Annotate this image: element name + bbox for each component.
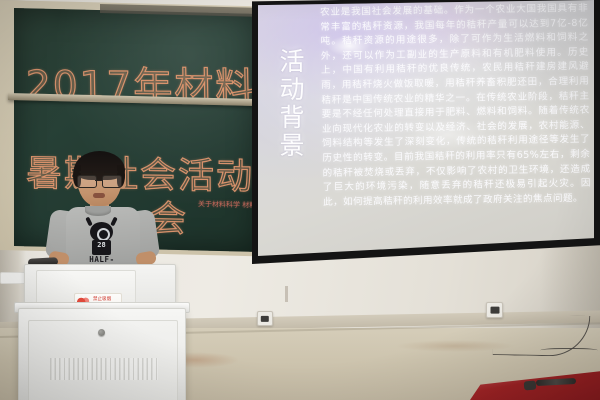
power-cable-tail bbox=[540, 348, 598, 354]
glasses-lens-left bbox=[77, 175, 97, 188]
glasses-bridge bbox=[95, 180, 102, 181]
glasses-icon bbox=[77, 175, 123, 186]
speaker: 28 HALF-LIFE bbox=[52, 152, 158, 277]
lecture-hall-photo: 2017年材料学院 暑期社会活动 会 关于材料科学 材料科学与 活动背景 农业是… bbox=[0, 0, 600, 400]
cloth-object-body bbox=[524, 381, 537, 391]
shirt-graphic: 28 HALF-LIFE bbox=[80, 218, 124, 264]
outlet-slot bbox=[490, 307, 499, 314]
speaker-eyebrow-right bbox=[104, 171, 118, 173]
shirt-number: 28 bbox=[92, 241, 111, 249]
wall-scuff-mark bbox=[285, 286, 288, 302]
podium-lock-icon bbox=[98, 329, 105, 336]
slide-body-text: 农业是我国社会发展的基础。作为一个农业大国我国具有非常丰富的秸秆资源，我国每年的… bbox=[320, 2, 591, 210]
robot-horn-right-icon bbox=[110, 217, 118, 227]
speaker-mouth bbox=[93, 193, 105, 198]
speaker-collar bbox=[85, 206, 111, 216]
speaker-eyebrow-left bbox=[79, 171, 93, 173]
glasses-lens-right bbox=[102, 175, 122, 188]
outlet-slot bbox=[261, 315, 269, 321]
wall-outlet-left bbox=[257, 311, 273, 326]
podium-vent-grille bbox=[50, 358, 158, 380]
projection-screen: 活动背景 农业是我国社会发展的基础。作为一个农业大国我国具有非常丰富的秸秆资源，… bbox=[258, 0, 594, 256]
slide-title: 活动背景 bbox=[270, 48, 304, 160]
